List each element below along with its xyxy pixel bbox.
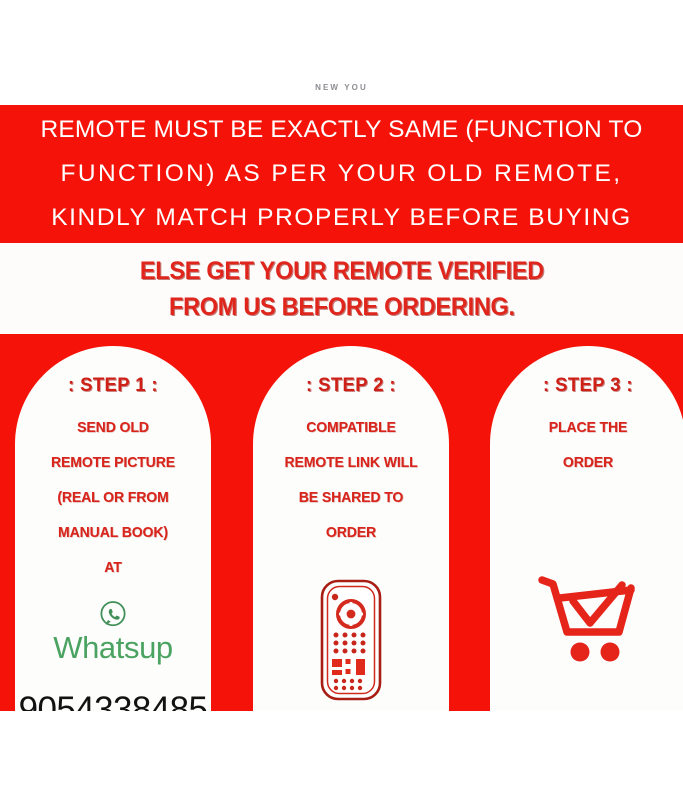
sub-banner-line-1: ELSE GET YOUR REMOTE VERIFIED <box>139 253 543 289</box>
sub-banner-line-2: FROM US BEFORE ORDERING. <box>169 289 515 325</box>
step-2-body: COMPATIBLE REMOTE LINK WILL BE SHARED TO… <box>253 411 449 551</box>
shopping-cart-check-icon <box>536 568 640 668</box>
step-2-line-1: COMPATIBLE <box>257 411 445 446</box>
step-1-line-5: AT <box>19 551 207 586</box>
step-1-line-1: SEND OLD <box>19 411 207 446</box>
step-3-line-1: PLACE THE <box>494 411 682 446</box>
step-2-line-2: REMOTE LINK WILL <box>257 446 445 481</box>
step-1-line-3: (REAL OR FROM <box>19 481 207 516</box>
step-card-2-content: : STEP 2 : COMPATIBLE REMOTE LINK WILL B… <box>253 346 449 711</box>
remote-icon-wrapper <box>253 578 449 707</box>
warning-line-3: KINDLY MATCH PROPERLY BEFORE BUYING <box>51 196 632 240</box>
cart-icon-wrapper <box>490 568 683 673</box>
step-1-body: SEND OLD REMOTE PICTURE (REAL OR FROM MA… <box>15 411 211 586</box>
step-card-3: : STEP 3 : PLACE THE ORDER <box>490 346 683 711</box>
warning-line-2: FUNCTION) AS PER YOUR OLD REMOTE, <box>61 152 623 196</box>
promo-poster: NEW YOU REMOTE MUST BE EXACTLY SAME (FUN… <box>0 0 683 800</box>
steps-area: : STEP 1 : SEND OLD REMOTE PICTURE (REAL… <box>0 334 683 711</box>
sub-banner: ELSE GET YOUR REMOTE VERIFIED FROM US BE… <box>0 243 683 334</box>
step-2-title: : STEP 2 : <box>258 374 444 397</box>
bottom-whitespace <box>0 711 683 800</box>
warning-banner: REMOTE MUST BE EXACTLY SAME (FUNCTION TO… <box>0 105 683 243</box>
whatsapp-icon[interactable] <box>98 599 128 629</box>
step-1-line-4: MANUAL BOOK) <box>19 516 207 551</box>
step-3-title: : STEP 3 : <box>495 374 681 397</box>
whatsapp-contact-block[interactable]: Whatsup 9054338485 <box>15 591 211 665</box>
step-3-body: PLACE THE ORDER <box>490 411 683 481</box>
warning-line-1: REMOTE MUST BE EXACTLY SAME (FUNCTION TO <box>41 108 643 152</box>
step-2-line-3: BE SHARED TO <box>257 481 445 516</box>
step-card-3-content: : STEP 3 : PLACE THE ORDER <box>490 346 683 711</box>
step-3-line-2: ORDER <box>494 446 682 481</box>
whatsapp-label[interactable]: Whatsup <box>15 631 211 665</box>
step-1-title: : STEP 1 : <box>20 374 206 397</box>
step-card-1-content: : STEP 1 : SEND OLD REMOTE PICTURE (REAL… <box>15 346 211 711</box>
step-1-line-2: REMOTE PICTURE <box>19 446 207 481</box>
step-card-2: : STEP 2 : COMPATIBLE REMOTE LINK WILL B… <box>253 346 449 711</box>
brand-strip: NEW YOU <box>0 0 683 105</box>
brand-name: NEW YOU <box>0 83 683 92</box>
step-2-line-4: ORDER <box>257 516 445 551</box>
remote-control-icon <box>319 578 383 702</box>
step-card-1: : STEP 1 : SEND OLD REMOTE PICTURE (REAL… <box>15 346 211 711</box>
